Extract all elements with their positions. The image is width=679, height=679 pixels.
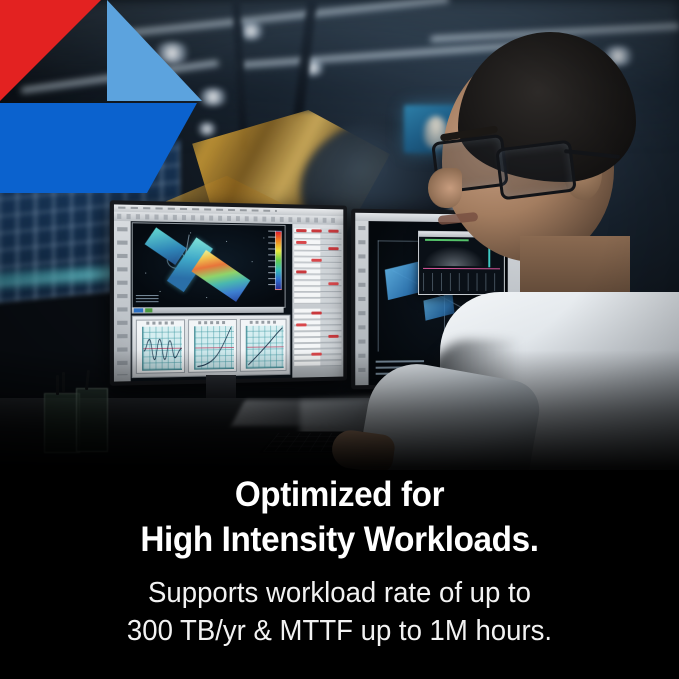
red-triangle xyxy=(0,0,101,101)
colorbar-tick-labels xyxy=(268,231,276,288)
left-monitor[interactable] xyxy=(110,200,347,386)
dark-blue-arrow xyxy=(0,103,197,193)
headline-line-1: Optimized for xyxy=(17,470,662,515)
linear-rise-curve xyxy=(246,326,283,368)
pen xyxy=(56,375,59,395)
pen-cup-secondary xyxy=(76,388,108,452)
light-blue-triangle xyxy=(107,0,202,101)
marketing-text-block: Optimized for High Intensity Workloads. … xyxy=(0,470,679,679)
graph-panel-2-plot xyxy=(194,326,233,370)
satellite-panel-lower xyxy=(191,250,250,302)
app-tool-palette[interactable] xyxy=(114,221,131,382)
app-data-table-panel[interactable] xyxy=(292,224,343,378)
engineer-nose xyxy=(428,168,462,208)
exponential-rise-curve xyxy=(195,326,233,369)
corner-flag-logo xyxy=(0,0,210,200)
graph-panel-3-title xyxy=(250,321,277,324)
graph-panel-2-title xyxy=(199,321,227,324)
product-feature-banner: Optimized for High Intensity Workloads. … xyxy=(0,0,679,679)
headline-line-2: High Intensity Workloads. xyxy=(17,515,662,560)
graph-panel-3[interactable] xyxy=(240,319,287,372)
graph-panel-container xyxy=(132,315,291,378)
damped-sine-wave-curve xyxy=(143,326,182,369)
subline-line-2: 300 TB/yr & MTTF up to 1M hours. xyxy=(17,612,662,650)
engineer-subject xyxy=(424,40,679,500)
satellite-3d-viewport[interactable] xyxy=(132,222,286,308)
thermal-colorbar-legend xyxy=(275,231,282,290)
graph-panel-3-plot xyxy=(245,326,283,369)
graph-panel-1-plot xyxy=(142,326,182,370)
left-monitor-screen[interactable] xyxy=(114,204,343,381)
viewport-info-text xyxy=(136,295,159,304)
pen-cup xyxy=(44,393,80,453)
graph-panel-1[interactable] xyxy=(136,319,185,374)
viewport-tab-strip[interactable] xyxy=(132,307,284,314)
graph-panel-2[interactable] xyxy=(188,319,236,373)
graph-panel-1-title xyxy=(146,321,174,324)
cad-tool-palette[interactable] xyxy=(355,221,368,385)
paper-sheet xyxy=(231,400,365,426)
subline-line-1: Supports workload rate of up to xyxy=(17,560,662,612)
pen xyxy=(62,372,65,392)
